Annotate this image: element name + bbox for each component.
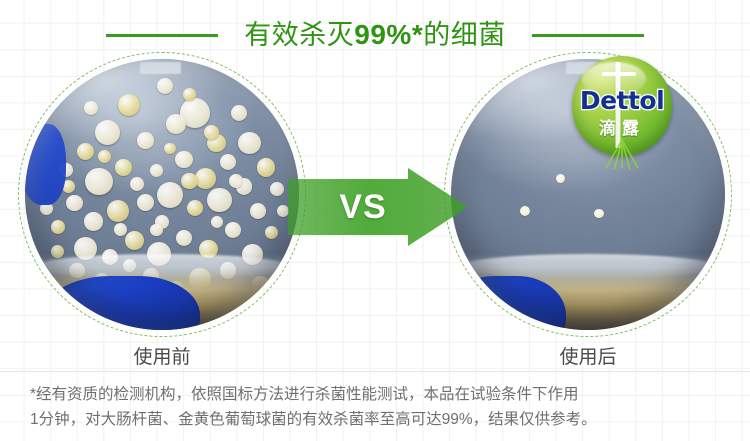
- headline-banner: 有效杀灭99%*的细菌: [0, 14, 750, 56]
- footnote-block: *经有资质的检测机构，依照国标方法进行杀菌性能测试，本品在试验条件下作用 1分钟…: [30, 382, 730, 432]
- petri-dish-before: [18, 52, 306, 337]
- dettol-logo: Dettol 滴露: [568, 52, 676, 160]
- footnote-line-1: *经有资质的检测机构，依照国标方法进行杀菌性能测试，本品在试验条件下作用: [30, 382, 730, 407]
- footnote-line-2: 1分钟，对大肠杆菌、金黄色葡萄球菌的有效杀菌率至高可达99%，结果仅供参考。: [30, 407, 730, 432]
- headline-rule-right: [532, 34, 644, 37]
- logo-brand-cn-text: 滴露: [568, 114, 676, 139]
- headline-highlight: 99%*: [354, 19, 423, 50]
- vs-label: VS: [288, 168, 438, 246]
- caption-after: 使用后: [458, 342, 718, 369]
- caption-before: 使用前: [32, 342, 292, 369]
- headline-prefix: 有效杀灭: [244, 20, 354, 50]
- footnote-divider: [0, 371, 750, 372]
- dish-photo-before: [25, 59, 299, 330]
- headline-rule-left: [106, 34, 218, 37]
- headline-title: 有效杀灭99%*的细菌: [244, 21, 505, 49]
- headline-suffix: 的细菌: [423, 20, 506, 50]
- dish-vignette-before: [25, 59, 299, 330]
- logo-brand-text: Dettol: [568, 86, 676, 115]
- sparkle-icon: [598, 138, 646, 172]
